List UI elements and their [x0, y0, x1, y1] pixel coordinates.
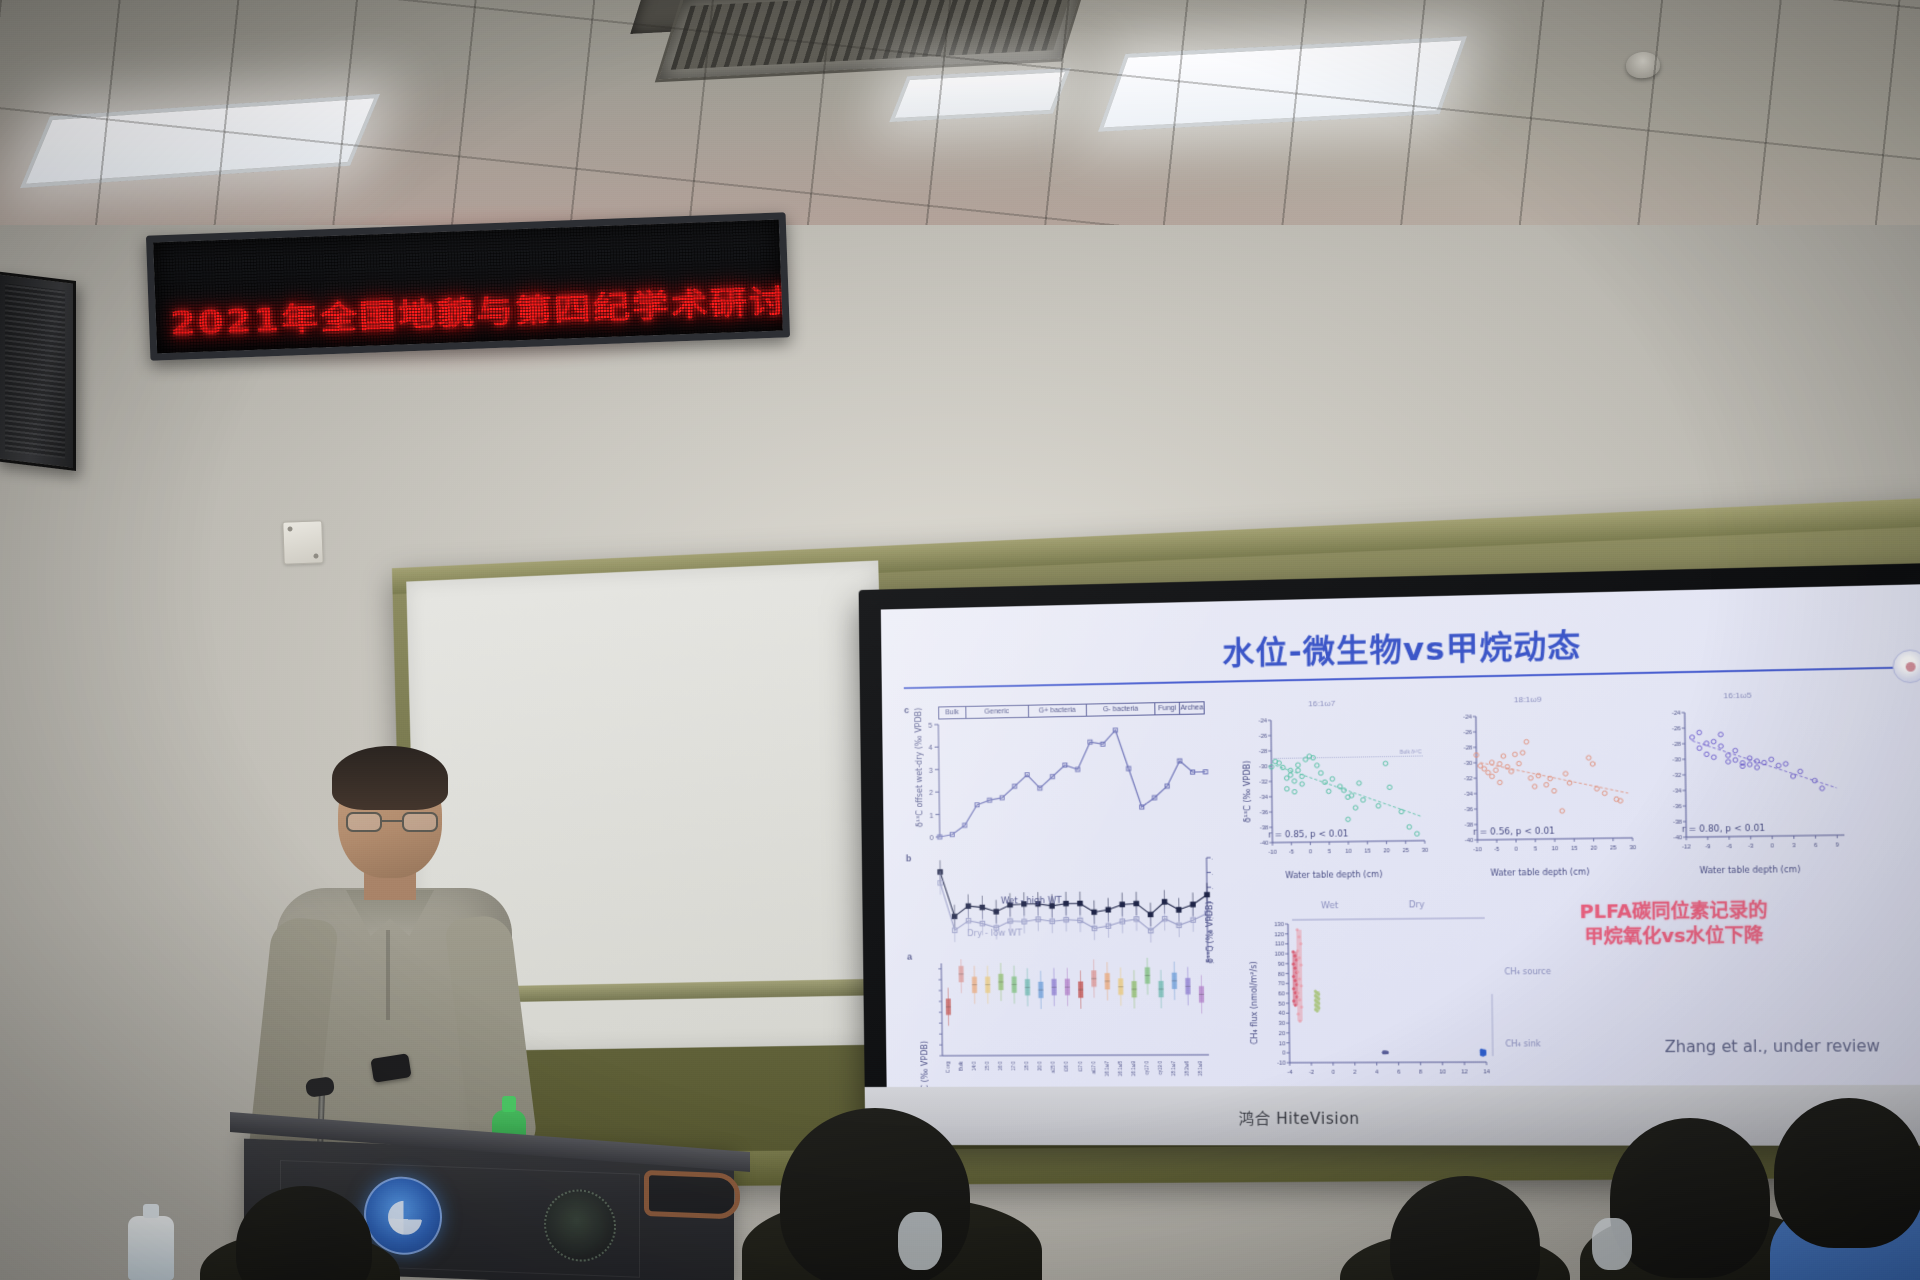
plfa-multipanel-chart: c b a BulkGenericG+ bacteriaG- bacteriaF…	[906, 697, 1216, 1087]
svg-text:4: 4	[1375, 1070, 1378, 1076]
svg-text:-28: -28	[1259, 749, 1267, 755]
screw-icon	[287, 526, 292, 531]
xaxis-label-1: Water table depth (cm)	[1285, 870, 1382, 880]
svg-text:-5: -5	[1289, 849, 1294, 855]
scatter-panel-16-1w5: 16:1ω5 -12-9-6-30369-24-26-28-30-32-34-3…	[1652, 691, 1851, 884]
svg-text:-12: -12	[1682, 844, 1691, 850]
svg-text:60: 60	[1278, 991, 1284, 997]
svg-text:16:1ω9: 16:1ω9	[1131, 1061, 1136, 1077]
svg-text:-3: -3	[1748, 844, 1753, 850]
svg-text:i16:0: i16:0	[1064, 1061, 1069, 1072]
svg-text:cy19:0: cy19:0	[1158, 1061, 1163, 1075]
svg-text:14: 14	[1483, 1069, 1490, 1075]
svg-text:130: 130	[1274, 922, 1284, 928]
svg-text:-28: -28	[1212, 886, 1214, 892]
svg-text:-2: -2	[1309, 1070, 1314, 1076]
dry-low-wt-label: Dry - low WT	[967, 929, 1022, 940]
svg-text:-10: -10	[1277, 1061, 1285, 1067]
svg-text:0: 0	[1282, 1051, 1285, 1057]
svg-text:5: 5	[928, 723, 932, 730]
svg-text:0: 0	[930, 835, 934, 842]
svg-text:3: 3	[1792, 843, 1795, 849]
plfa-boxplot-panel: C orgBulk14:015:016:017:018:020:0a15:0i1…	[909, 957, 1216, 1087]
svg-text:3: 3	[929, 768, 933, 775]
svg-text:10: 10	[1439, 1069, 1446, 1075]
svg-text:-26: -26	[1259, 734, 1267, 740]
display-brand-label: 鸿合 HiteVision	[1239, 1108, 1360, 1129]
yaxis-label-offset: δ¹³C offset wet-dry (‰ VPDB)	[914, 708, 924, 828]
svg-text:cy17:0: cy17:0	[1144, 1061, 1149, 1075]
svg-text:-26: -26	[1212, 871, 1214, 877]
svg-text:-28: -28	[1464, 745, 1472, 751]
svg-text:10: 10	[1279, 1041, 1285, 1047]
svg-text:100: 100	[1275, 952, 1285, 958]
svg-text:-36: -36	[1464, 807, 1472, 813]
svg-text:-40: -40	[1673, 835, 1682, 841]
svg-text:Bulk δ¹³C: Bulk δ¹³C	[1400, 750, 1422, 757]
ceiling-light-panel	[889, 68, 1071, 122]
svg-text:-38: -38	[1673, 820, 1682, 826]
svg-text:14:0: 14:0	[971, 1061, 976, 1070]
svg-text:17:0: 17:0	[1011, 1061, 1016, 1070]
svg-text:18:1ω7: 18:1ω7	[1171, 1061, 1176, 1077]
svg-text:-24: -24	[1212, 856, 1215, 862]
ch4-source-label: CH₄ source	[1504, 967, 1551, 977]
svg-text:25: 25	[1402, 848, 1408, 854]
svg-text:0: 0	[1332, 1070, 1335, 1076]
air-vent-secondary	[630, 0, 799, 34]
svg-text:-24: -24	[1672, 711, 1681, 717]
svg-text:2: 2	[1353, 1070, 1356, 1076]
svg-text:50: 50	[1278, 1001, 1284, 1007]
ceiling	[0, 0, 1920, 260]
svg-text:20: 20	[1383, 848, 1389, 854]
svg-text:-36: -36	[1673, 804, 1682, 810]
air-conditioning-vent	[655, 0, 1089, 82]
screw-icon	[313, 553, 318, 558]
glasses-right-lens	[402, 812, 438, 832]
led-scrolling-banner: 2021年全国地貌与第四纪学术研讨会	[146, 212, 790, 360]
svg-text:-28: -28	[1672, 742, 1681, 748]
scatter-title-2: 18:1ω9	[1514, 695, 1542, 705]
svg-text:-40: -40	[1465, 838, 1473, 844]
svg-text:-38: -38	[1465, 822, 1473, 828]
svg-text:120: 120	[1274, 932, 1284, 938]
svg-text:70: 70	[1278, 981, 1284, 987]
svg-text:-30: -30	[1259, 764, 1267, 770]
correlation-annotation-2: r = 0.56, p < 0.01	[1473, 826, 1555, 837]
svg-text:15:0: 15:0	[985, 1061, 990, 1070]
svg-text:20:0: 20:0	[1038, 1061, 1043, 1070]
correlation-annotation-1: r = 0.85, p < 0.01	[1268, 829, 1348, 840]
plfa-category-cell: Archea	[1180, 702, 1204, 714]
scatter-plot-2: -10-5051015202530-24-26-28-30-32-34-36-3…	[1444, 705, 1639, 869]
face-mask-icon	[898, 1212, 942, 1270]
svg-text:-34: -34	[1673, 788, 1682, 794]
water-bottle	[128, 1216, 174, 1280]
svg-text:Bulk: Bulk	[958, 1061, 963, 1071]
svg-text:-36: -36	[1260, 810, 1268, 816]
svg-text:-32: -32	[1259, 779, 1267, 785]
scatter-title-3: 16:1ω5	[1723, 690, 1752, 700]
display-brand-bar: 鸿合 HiteVision	[865, 1085, 1920, 1146]
svg-text:-10: -10	[1473, 847, 1481, 853]
ch4-flux-panel: Wet Dry -1001020304050607080901001101201…	[1242, 903, 1544, 1087]
presenter-shirt-placket	[386, 930, 390, 1020]
wet-high-wt-label: Wet - high WT	[1001, 896, 1062, 907]
svg-text:1: 1	[929, 813, 933, 820]
audience-head	[1610, 1118, 1770, 1278]
audience-head	[1774, 1098, 1920, 1248]
scatter-plot-1: -10-5051015202530-24-26-28-30-32-34-36-3…	[1240, 709, 1432, 871]
svg-text:-30: -30	[1672, 757, 1681, 763]
svg-text:10: 10	[1552, 846, 1559, 852]
regime-label-wet: Wet	[1321, 901, 1338, 911]
yaxis-label-d13c-right: δ¹³C (‰ VPDB)	[1205, 901, 1215, 963]
svg-text:0: 0	[1771, 843, 1774, 849]
yaxis-label-ch4: CH₄ flux (nmol/m²/s)	[1249, 961, 1259, 1044]
svg-text:-34: -34	[1464, 792, 1472, 798]
svg-text:-32: -32	[1464, 776, 1472, 782]
yaxis-label-d13c-left: δ¹³C (‰ VPDB)	[920, 1041, 930, 1087]
scatter-panel-18-1w9: 18:1ω9 -10-5051015202530-24-26-28-30-32-…	[1444, 695, 1640, 886]
svg-text:a15:0: a15:0	[1051, 1061, 1056, 1073]
svg-text:-6: -6	[1727, 844, 1732, 850]
svg-text:18:1ω9: 18:1ω9	[1198, 1060, 1203, 1076]
svg-text:i17:0: i17:0	[1078, 1061, 1083, 1072]
svg-text:20: 20	[1279, 1031, 1285, 1037]
annotation-line-1: PLFA碳同位素记录的	[1540, 898, 1809, 926]
svg-text:-26: -26	[1672, 726, 1681, 732]
smoke-detector-icon	[1625, 51, 1661, 79]
svg-text:-5: -5	[1494, 847, 1499, 853]
svg-text:-4: -4	[1287, 1070, 1292, 1076]
plfa-offset-lineplot: 012345	[906, 713, 1213, 859]
svg-text:15: 15	[1364, 848, 1370, 854]
svg-text:40: 40	[1279, 1011, 1285, 1017]
svg-text:20: 20	[1590, 846, 1597, 852]
svg-text:5: 5	[1328, 849, 1331, 855]
audience-head	[780, 1108, 970, 1280]
plfa-category-cell: Fungi	[1155, 703, 1180, 715]
xaxis-label-2: Water table depth (cm)	[1490, 867, 1589, 877]
panel-tag-c: c	[904, 705, 909, 715]
svg-text:90: 90	[1278, 962, 1284, 968]
correlation-annotation-3: r = 0.80, p < 0.01	[1682, 824, 1765, 836]
svg-text:-10: -10	[1268, 850, 1276, 856]
svg-text:18:0: 18:0	[1024, 1061, 1029, 1070]
svg-text:8: 8	[1419, 1069, 1422, 1075]
scatter-title-1: 16:1ω7	[1308, 699, 1335, 709]
svg-text:25: 25	[1610, 845, 1617, 851]
conference-room-photo: 2021年全国地貌与第四纪学术研讨会 水位-微生物vs甲烷动态 c b a	[0, 0, 1920, 1280]
regime-label-dry: Dry	[1409, 900, 1425, 910]
svg-text:2: 2	[929, 790, 933, 797]
svg-text:5: 5	[1534, 846, 1537, 852]
slide-logo-icon	[1892, 649, 1920, 683]
glasses-icon	[346, 812, 438, 832]
svg-text:-24: -24	[1463, 714, 1471, 720]
wall-speaker	[0, 271, 76, 471]
scatter-plot-3: -12-9-6-30369-24-26-28-30-32-34-36-38-40	[1652, 701, 1851, 867]
svg-text:0: 0	[1514, 847, 1517, 853]
svg-text:16:1ω7: 16:1ω7	[1104, 1061, 1109, 1077]
svg-text:30: 30	[1629, 845, 1636, 851]
svg-text:-34: -34	[1259, 795, 1267, 801]
ceiling-light-panel	[1098, 36, 1467, 131]
svg-text:110: 110	[1275, 942, 1284, 948]
svg-text:0: 0	[1309, 849, 1312, 855]
svg-text:-26: -26	[1463, 730, 1471, 736]
svg-text:-9: -9	[1705, 844, 1710, 850]
svg-text:10: 10	[1345, 849, 1351, 855]
svg-text:-30: -30	[1464, 761, 1472, 767]
ceiling-light-panel	[20, 94, 380, 188]
presenter-hair	[332, 746, 448, 810]
face-mask-icon	[1592, 1218, 1632, 1270]
svg-text:16:0: 16:0	[998, 1061, 1003, 1070]
svg-text:15: 15	[1571, 846, 1578, 852]
svg-text:C org: C org	[945, 1061, 950, 1073]
annotation-line-2: 甲烷氧化vs水位下降	[1540, 924, 1809, 952]
glasses-left-lens	[346, 812, 382, 832]
xaxis-label-3: Water table depth (cm)	[1700, 865, 1801, 876]
svg-text:80: 80	[1278, 972, 1284, 978]
scatter-panel-16-1w7: 16:1ω7 -10-5051015202530-24-26-28-30-32-…	[1240, 699, 1432, 888]
svg-text:6: 6	[1814, 843, 1817, 849]
plfa-category-cell: Bulk	[939, 707, 966, 719]
glasses-bridge	[382, 820, 402, 822]
svg-text:-32: -32	[1673, 773, 1682, 779]
ch4-flux-plot: -100102030405060708090100110120130-4-202…	[1242, 911, 1544, 1087]
wall-power-outlet[interactable]	[282, 520, 323, 564]
display-screen[interactable]: 水位-微生物vs甲烷动态 c b a BulkGenericG+ bacteri…	[881, 584, 1920, 1087]
svg-text:30: 30	[1422, 848, 1429, 854]
svg-text:4: 4	[929, 745, 933, 752]
ch4-sink-label: CH₄ sink	[1505, 1039, 1541, 1048]
yaxis-label-1: δ¹³C (‰ VPDB)	[1242, 760, 1252, 822]
svg-text:6: 6	[1397, 1070, 1400, 1076]
lectern-handle	[644, 1170, 740, 1220]
ceiling-tint	[0, 0, 1920, 260]
svg-text:30: 30	[1279, 1021, 1285, 1027]
svg-text:-24: -24	[1259, 718, 1267, 724]
slide-red-annotation: PLFA碳同位素记录的 甲烷氧化vs水位下降	[1540, 898, 1809, 951]
svg-text:ai17:0: ai17:0	[1091, 1061, 1096, 1074]
svg-text:12: 12	[1461, 1069, 1468, 1075]
svg-text:-38: -38	[1260, 825, 1268, 831]
svg-text:16:1ω5: 16:1ω5	[1118, 1061, 1123, 1077]
presentation-slide: 水位-微生物vs甲烷动态 c b a BulkGenericG+ bacteri…	[881, 584, 1920, 1087]
interactive-display[interactable]: 水位-微生物vs甲烷动态 c b a BulkGenericG+ bacteri…	[859, 562, 1920, 1146]
slide-citation: Zhang et al., under review	[1664, 1037, 1880, 1057]
svg-text:-40: -40	[1260, 841, 1268, 847]
svg-text:9: 9	[1836, 842, 1839, 848]
led-banner-text: 2021年全国地貌与第四纪学术研讨会	[169, 273, 790, 345]
svg-text:18:2ω6: 18:2ω6	[1185, 1061, 1190, 1077]
